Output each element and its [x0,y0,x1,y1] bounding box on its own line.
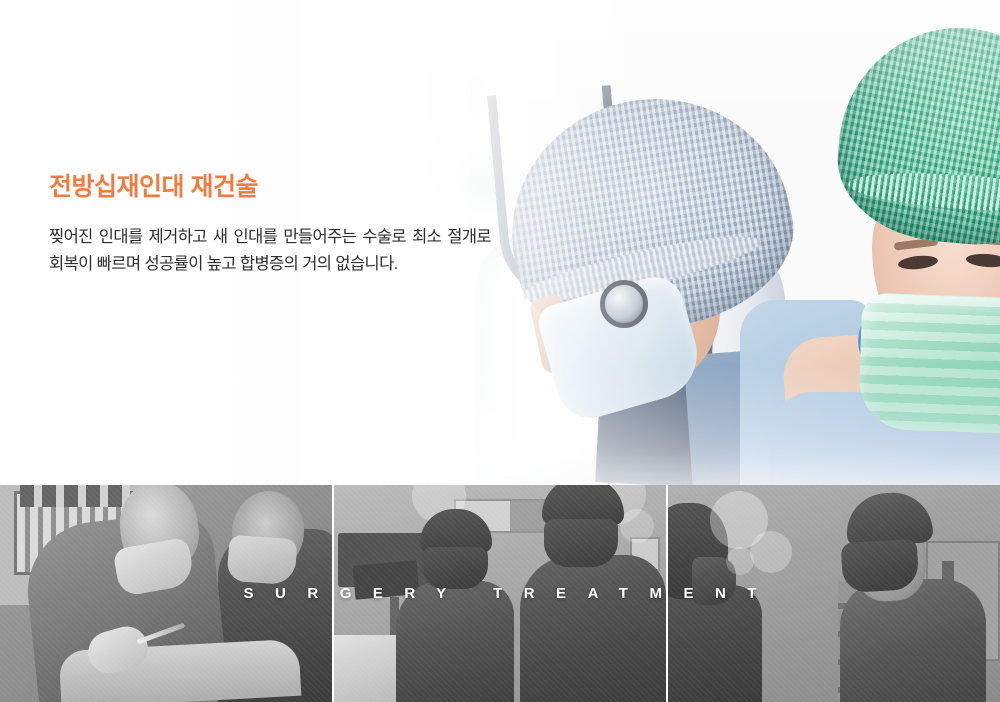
hero-section: 전방십재인대 재건술 찢어진 인대를 제거하고 새 인대를 만들어주는 수술로 … [0,0,1000,485]
page-title: 전방십재인대 재건술 [49,172,519,203]
strip-panel-operating-table [0,485,332,702]
strip-panel-staff-portrait [334,485,666,702]
hero-description-line-3: 없습니다. [335,255,397,273]
hero-description-line-1: 찢어진 인대를 제거하고 새 인대를 만들어주는 수술로 [49,228,406,246]
page-root: 전방십재인대 재건술 찢어진 인대를 제거하고 새 인대를 만들어주는 수술로 … [0,0,1000,702]
strip-panel-staff-conversation [668,485,1000,702]
hero-description: 찢어진 인대를 제거하고 새 인대를 만들어주는 수술로 최소 절개로 회복이 … [49,224,491,277]
hero-copy-block: 전방십재인대 재건술 찢어진 인대를 제거하고 새 인대를 만들어주는 수술로 … [49,172,519,278]
bottom-image-strip [0,485,1000,702]
photo-bottom-fade [300,365,1000,485]
